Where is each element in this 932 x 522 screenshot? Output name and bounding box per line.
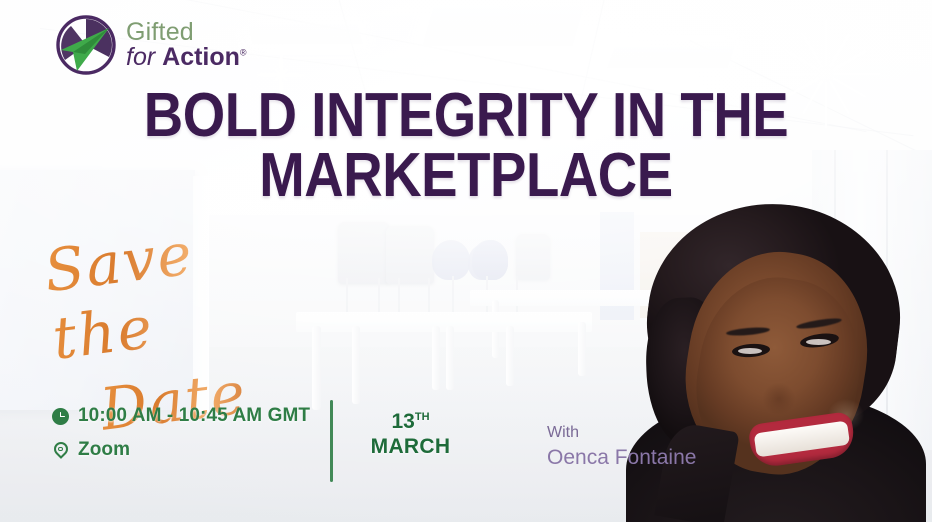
speaker-with-label: With — [547, 422, 696, 444]
speaker-credit: With Oenca Fontaine — [547, 422, 696, 472]
vertical-divider — [330, 400, 333, 482]
nose — [760, 378, 802, 416]
event-location: Zoom — [78, 439, 130, 461]
teeth — [754, 421, 850, 458]
date-month: MARCH — [358, 435, 463, 460]
date-day-suffix: TH — [415, 411, 430, 423]
title-line-1: BOLD INTEGRITY IN THE — [56, 86, 876, 146]
title-line-2: MARKETPLACE — [56, 146, 876, 206]
save-the-date-line-1: Save the — [41, 207, 306, 372]
date-day: 13TH — [358, 410, 463, 435]
event-date: 13TH MARCH — [358, 410, 463, 460]
brand-for: for — [126, 43, 155, 71]
registered-mark: ® — [240, 48, 247, 58]
time-row: 10:00 AM - 10:45 AM GMT — [52, 405, 310, 427]
event-flyer: Gifted for Action® BOLD INTEGRITY IN THE… — [0, 0, 932, 522]
location-row: Zoom — [52, 439, 310, 461]
clock-icon — [52, 408, 69, 425]
page-title: BOLD INTEGRITY IN THE MARKETPLACE — [56, 86, 876, 205]
event-time: 10:00 AM - 10:45 AM GMT — [78, 405, 310, 427]
brand-action: Action — [162, 43, 240, 71]
location-pin-icon — [52, 442, 69, 459]
date-day-number: 13 — [391, 410, 414, 433]
brand-name-gifted: Gifted — [126, 20, 247, 46]
brand-wordmark: Gifted for Action® — [126, 20, 247, 71]
speaker-name: Oenca Fontaine — [547, 444, 696, 472]
eye-white — [806, 339, 831, 345]
brand-name-for-action: for Action® — [126, 45, 247, 71]
eye-white — [738, 348, 762, 354]
save-the-date-script: Save the Date — [48, 222, 298, 372]
brand-logo[interactable]: Gifted for Action® — [55, 14, 247, 76]
event-details: 10:00 AM - 10:45 AM GMT Zoom — [52, 405, 310, 473]
green-arrow-in-purple-circle-logo-icon — [55, 14, 117, 76]
